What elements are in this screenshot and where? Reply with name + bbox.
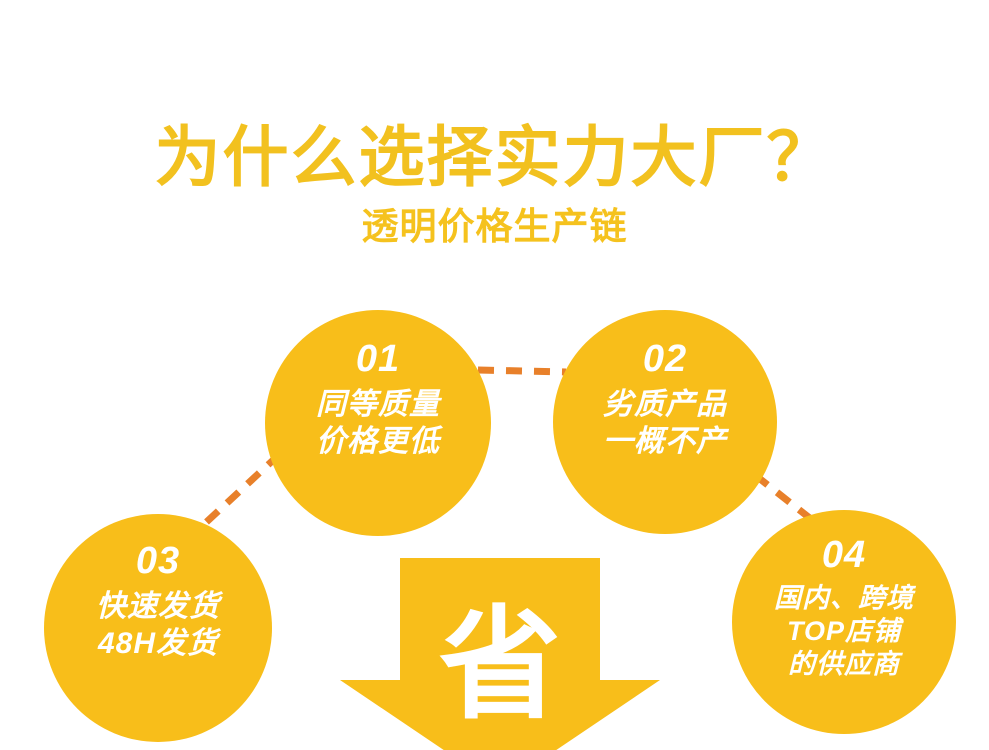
circle-line: 快速发货 [44,588,272,625]
circle-line: TOP店铺 [732,615,956,648]
circle-number-02: 02 [553,338,777,380]
feature-circle-04[interactable]: 04 国内、跨境 TOP店铺 的供应商 [732,510,956,734]
circle-line: 一概不产 [553,423,777,460]
feature-circle-01[interactable]: 01 同等质量 价格更低 [265,310,491,536]
circle-line: 的供应商 [732,648,956,681]
heading-block: 为什么选择实力大厂？ 透明价格生产链 [0,118,989,250]
circle-text-02: 劣质产品 一概不产 [553,386,777,460]
down-arrow-icon: 省 [340,558,660,750]
circle-line: 劣质产品 [553,386,777,423]
feature-circle-02[interactable]: 02 劣质产品 一概不产 [553,310,777,534]
infographic-canvas: 为什么选择实力大厂？ 透明价格生产链 省 01 同等质量 价格更低 02 劣质产… [0,0,989,750]
circle-line: 价格更低 [265,423,491,460]
arrow-label: 省 [340,604,660,726]
feature-circle-03[interactable]: 03 快速发货 48H发货 [44,514,272,742]
circle-text-01: 同等质量 价格更低 [265,386,491,460]
circle-number-03: 03 [44,540,272,582]
page-subtitle: 透明价格生产链 [0,204,989,250]
circle-number-04: 04 [732,534,956,576]
circle-number-01: 01 [265,338,491,380]
page-title: 为什么选择实力大厂？ [0,118,989,196]
circle-line: 同等质量 [265,386,491,423]
circle-line: 国内、跨境 [732,582,956,615]
circle-text-04: 国内、跨境 TOP店铺 的供应商 [732,582,956,681]
circle-line: 48H发货 [44,625,272,662]
circle-text-03: 快速发货 48H发货 [44,588,272,662]
